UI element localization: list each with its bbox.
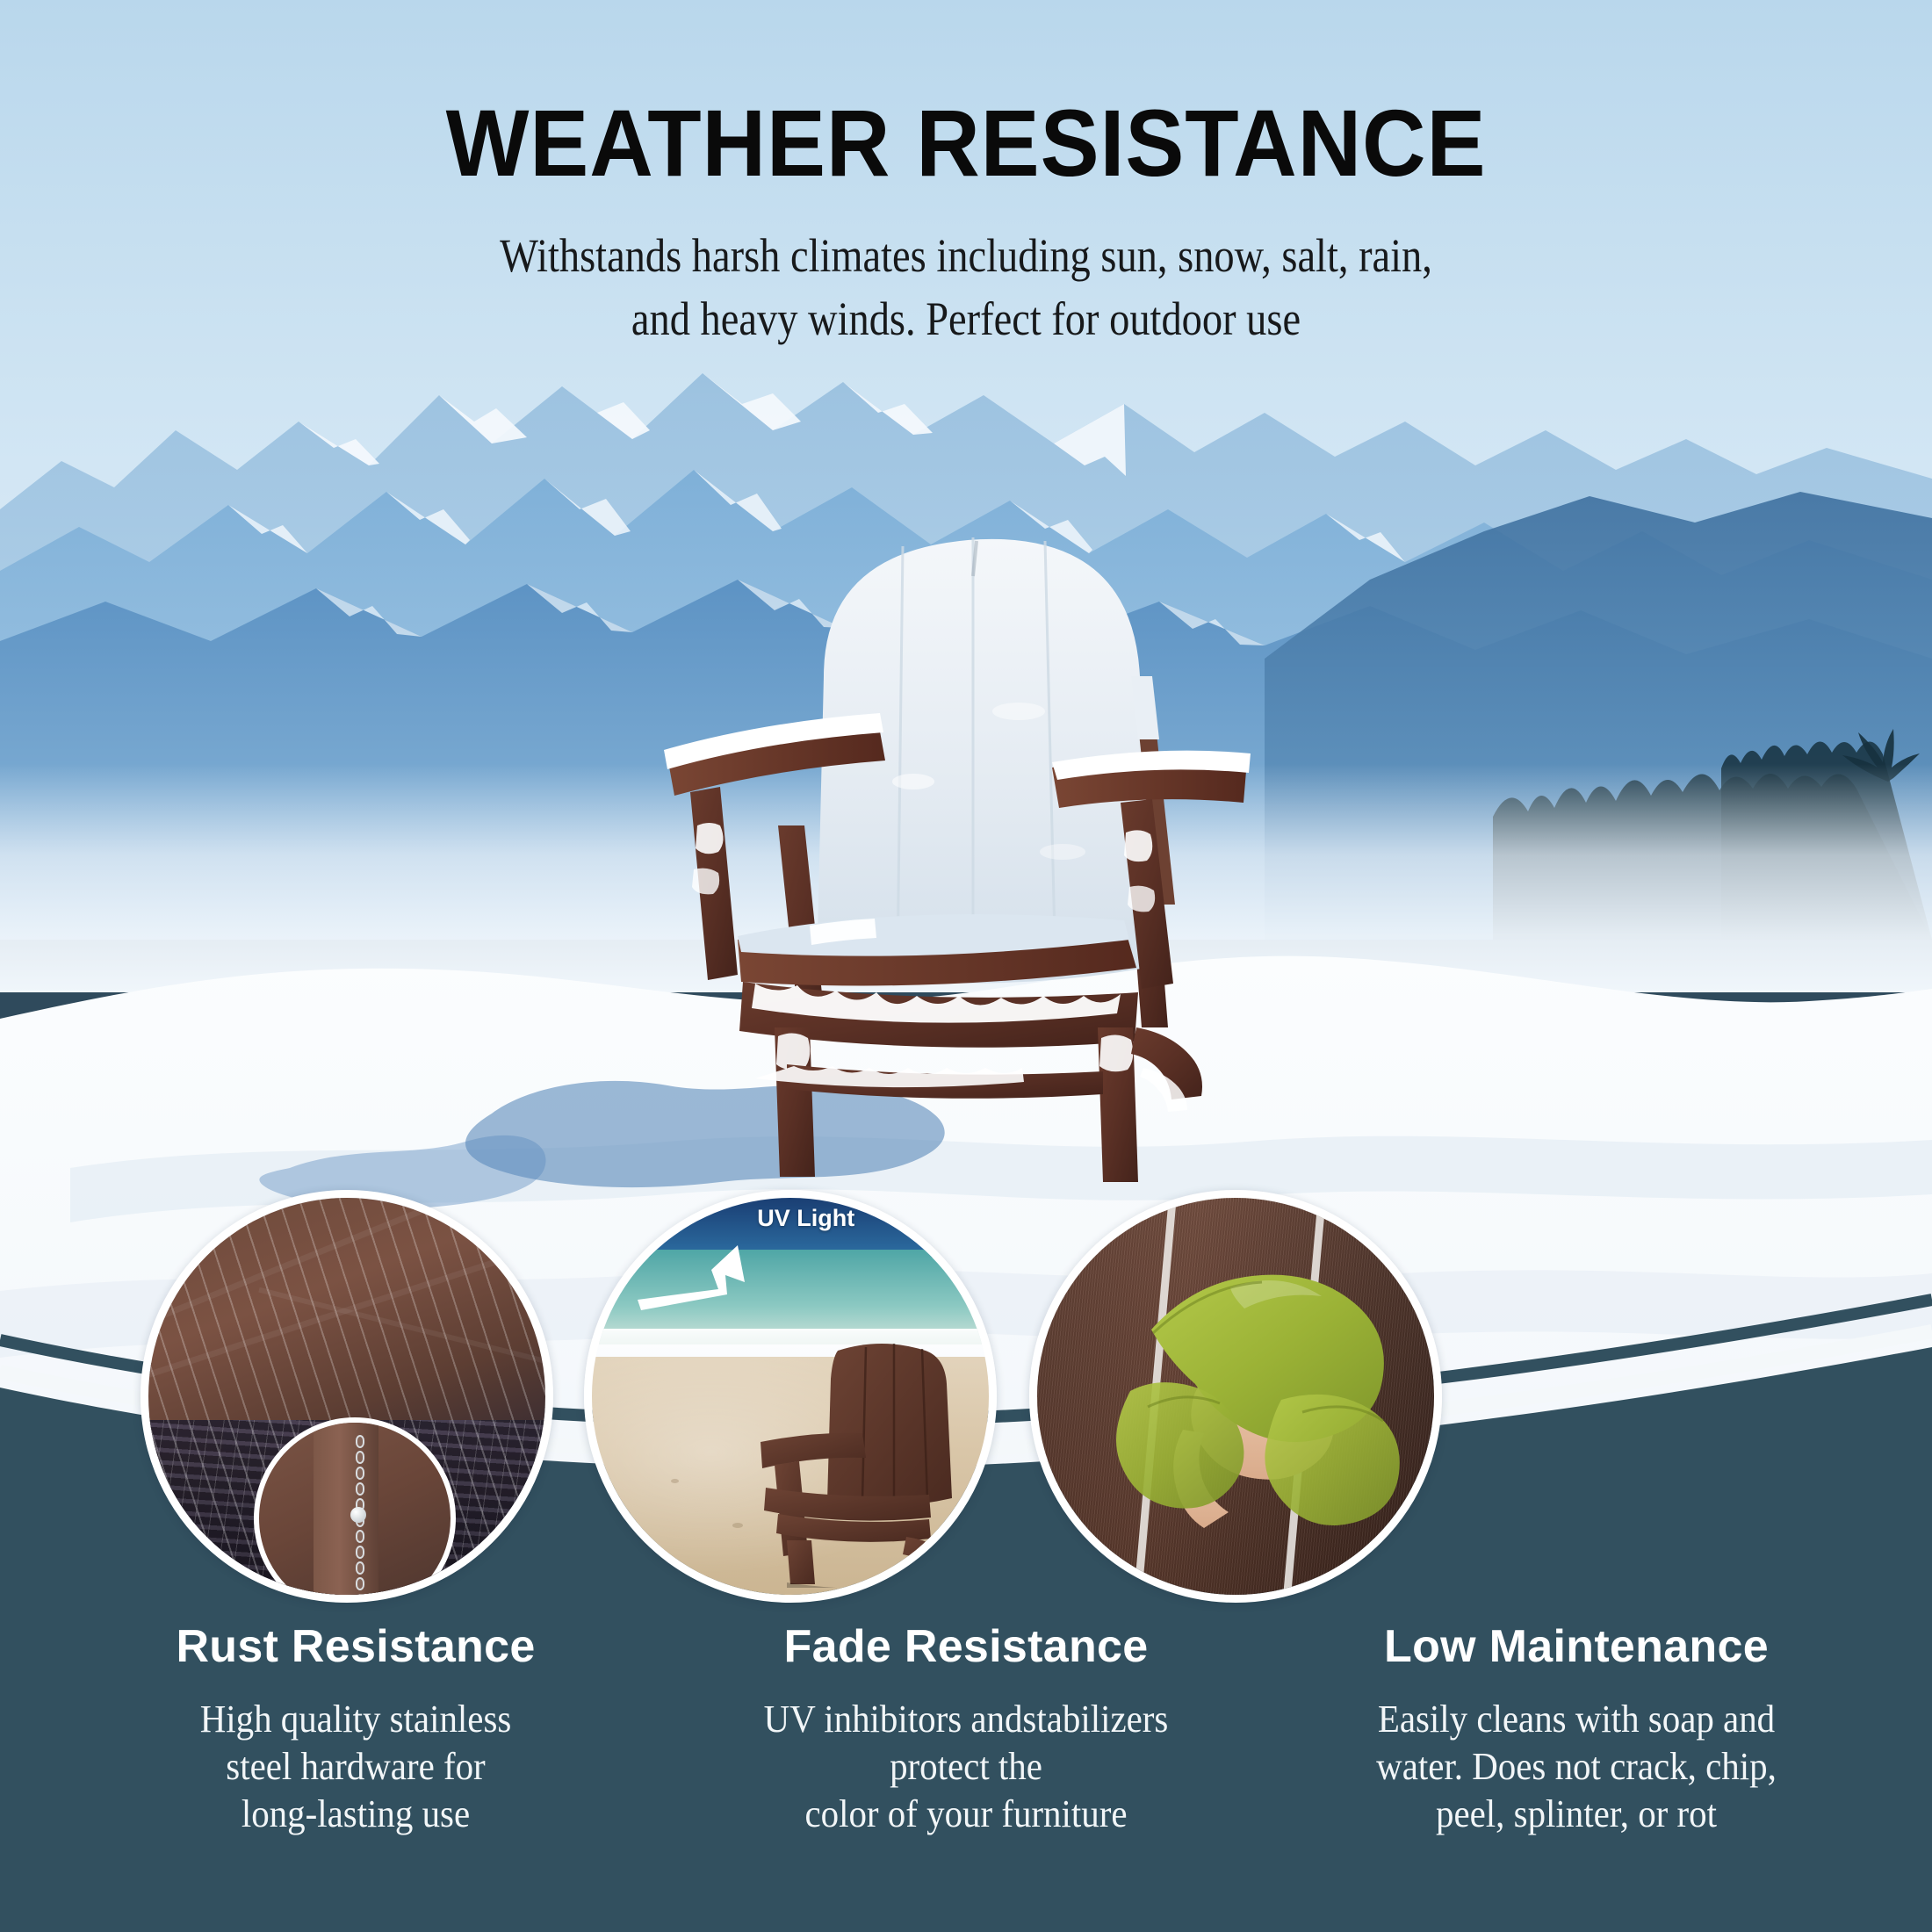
feature-body-line: color of your furniture xyxy=(804,1792,1127,1835)
feature-body-line: water. Does not crack, chip, xyxy=(1376,1745,1777,1788)
feature-block-fade-resistance: Fade Resistance UV inhibitors andstabili… xyxy=(694,1620,1238,1838)
feature-image-rust-resistance[interactable] xyxy=(141,1190,553,1603)
feature-body-fade-resistance: UV inhibitors andstabilizers protect the… xyxy=(713,1696,1220,1838)
infographic-canvas: WEATHER RESISTANCE Withstands harsh clim… xyxy=(0,0,1932,1932)
feature-heading-fade-resistance: Fade Resistance xyxy=(694,1620,1238,1673)
feature-block-low-maintenance: Low Maintenance Easily cleans with soap … xyxy=(1304,1620,1849,1838)
sand-speck xyxy=(671,1479,679,1483)
uv-light-arrow-icon xyxy=(634,1244,783,1327)
feature-body-low-maintenance: Easily cleans with soap and water. Does … xyxy=(1323,1696,1830,1838)
snow-covered-adirondack-chair xyxy=(606,413,1352,1115)
rain-on-furniture-scene xyxy=(148,1198,545,1595)
feature-body-line: UV inhibitors andstabilizers xyxy=(764,1698,1169,1741)
header-block: WEATHER RESISTANCE Withstands harsh clim… xyxy=(0,0,1932,351)
page-subtitle: Withstands harsh climates including sun,… xyxy=(135,225,1797,351)
feature-body-line: High quality stainless xyxy=(200,1698,512,1741)
feature-body-line: protect the xyxy=(890,1745,1042,1788)
feature-body-line: steel hardware for xyxy=(226,1745,485,1788)
feature-text-row: Rust Resistance High quality stainless s… xyxy=(0,1620,1932,1838)
feature-image-low-maintenance[interactable] xyxy=(1029,1190,1442,1603)
subtitle-line-2: and heavy winds. Perfect for outdoor use xyxy=(135,288,1797,351)
feature-body-rust-resistance: High quality stainless steel hardware fo… xyxy=(103,1696,609,1838)
feature-heading-rust-resistance: Rust Resistance xyxy=(83,1620,628,1673)
beach-adirondack-chair xyxy=(734,1333,997,1588)
feature-heading-low-maintenance: Low Maintenance xyxy=(1304,1620,1849,1673)
feature-block-rust-resistance: Rust Resistance High quality stainless s… xyxy=(83,1620,628,1838)
feature-body-line: peel, splinter, or rot xyxy=(1436,1792,1717,1835)
chain-bolt xyxy=(350,1507,366,1523)
feature-body-line: long-lasting use xyxy=(241,1792,470,1835)
uv-light-label: UV Light xyxy=(757,1205,854,1232)
cleaning-scene xyxy=(1037,1198,1434,1595)
page-title: WEATHER RESISTANCE xyxy=(68,95,1864,191)
subtitle-line-1: Withstands harsh climates including sun,… xyxy=(135,225,1797,288)
beach-scene: UV Light xyxy=(592,1198,989,1595)
furniture-post xyxy=(314,1423,378,1603)
microfiber-cloth-and-hand xyxy=(1099,1224,1442,1540)
feature-image-fade-resistance[interactable]: UV Light xyxy=(584,1190,997,1603)
feature-body-line: Easily cleans with soap and xyxy=(1378,1698,1775,1741)
